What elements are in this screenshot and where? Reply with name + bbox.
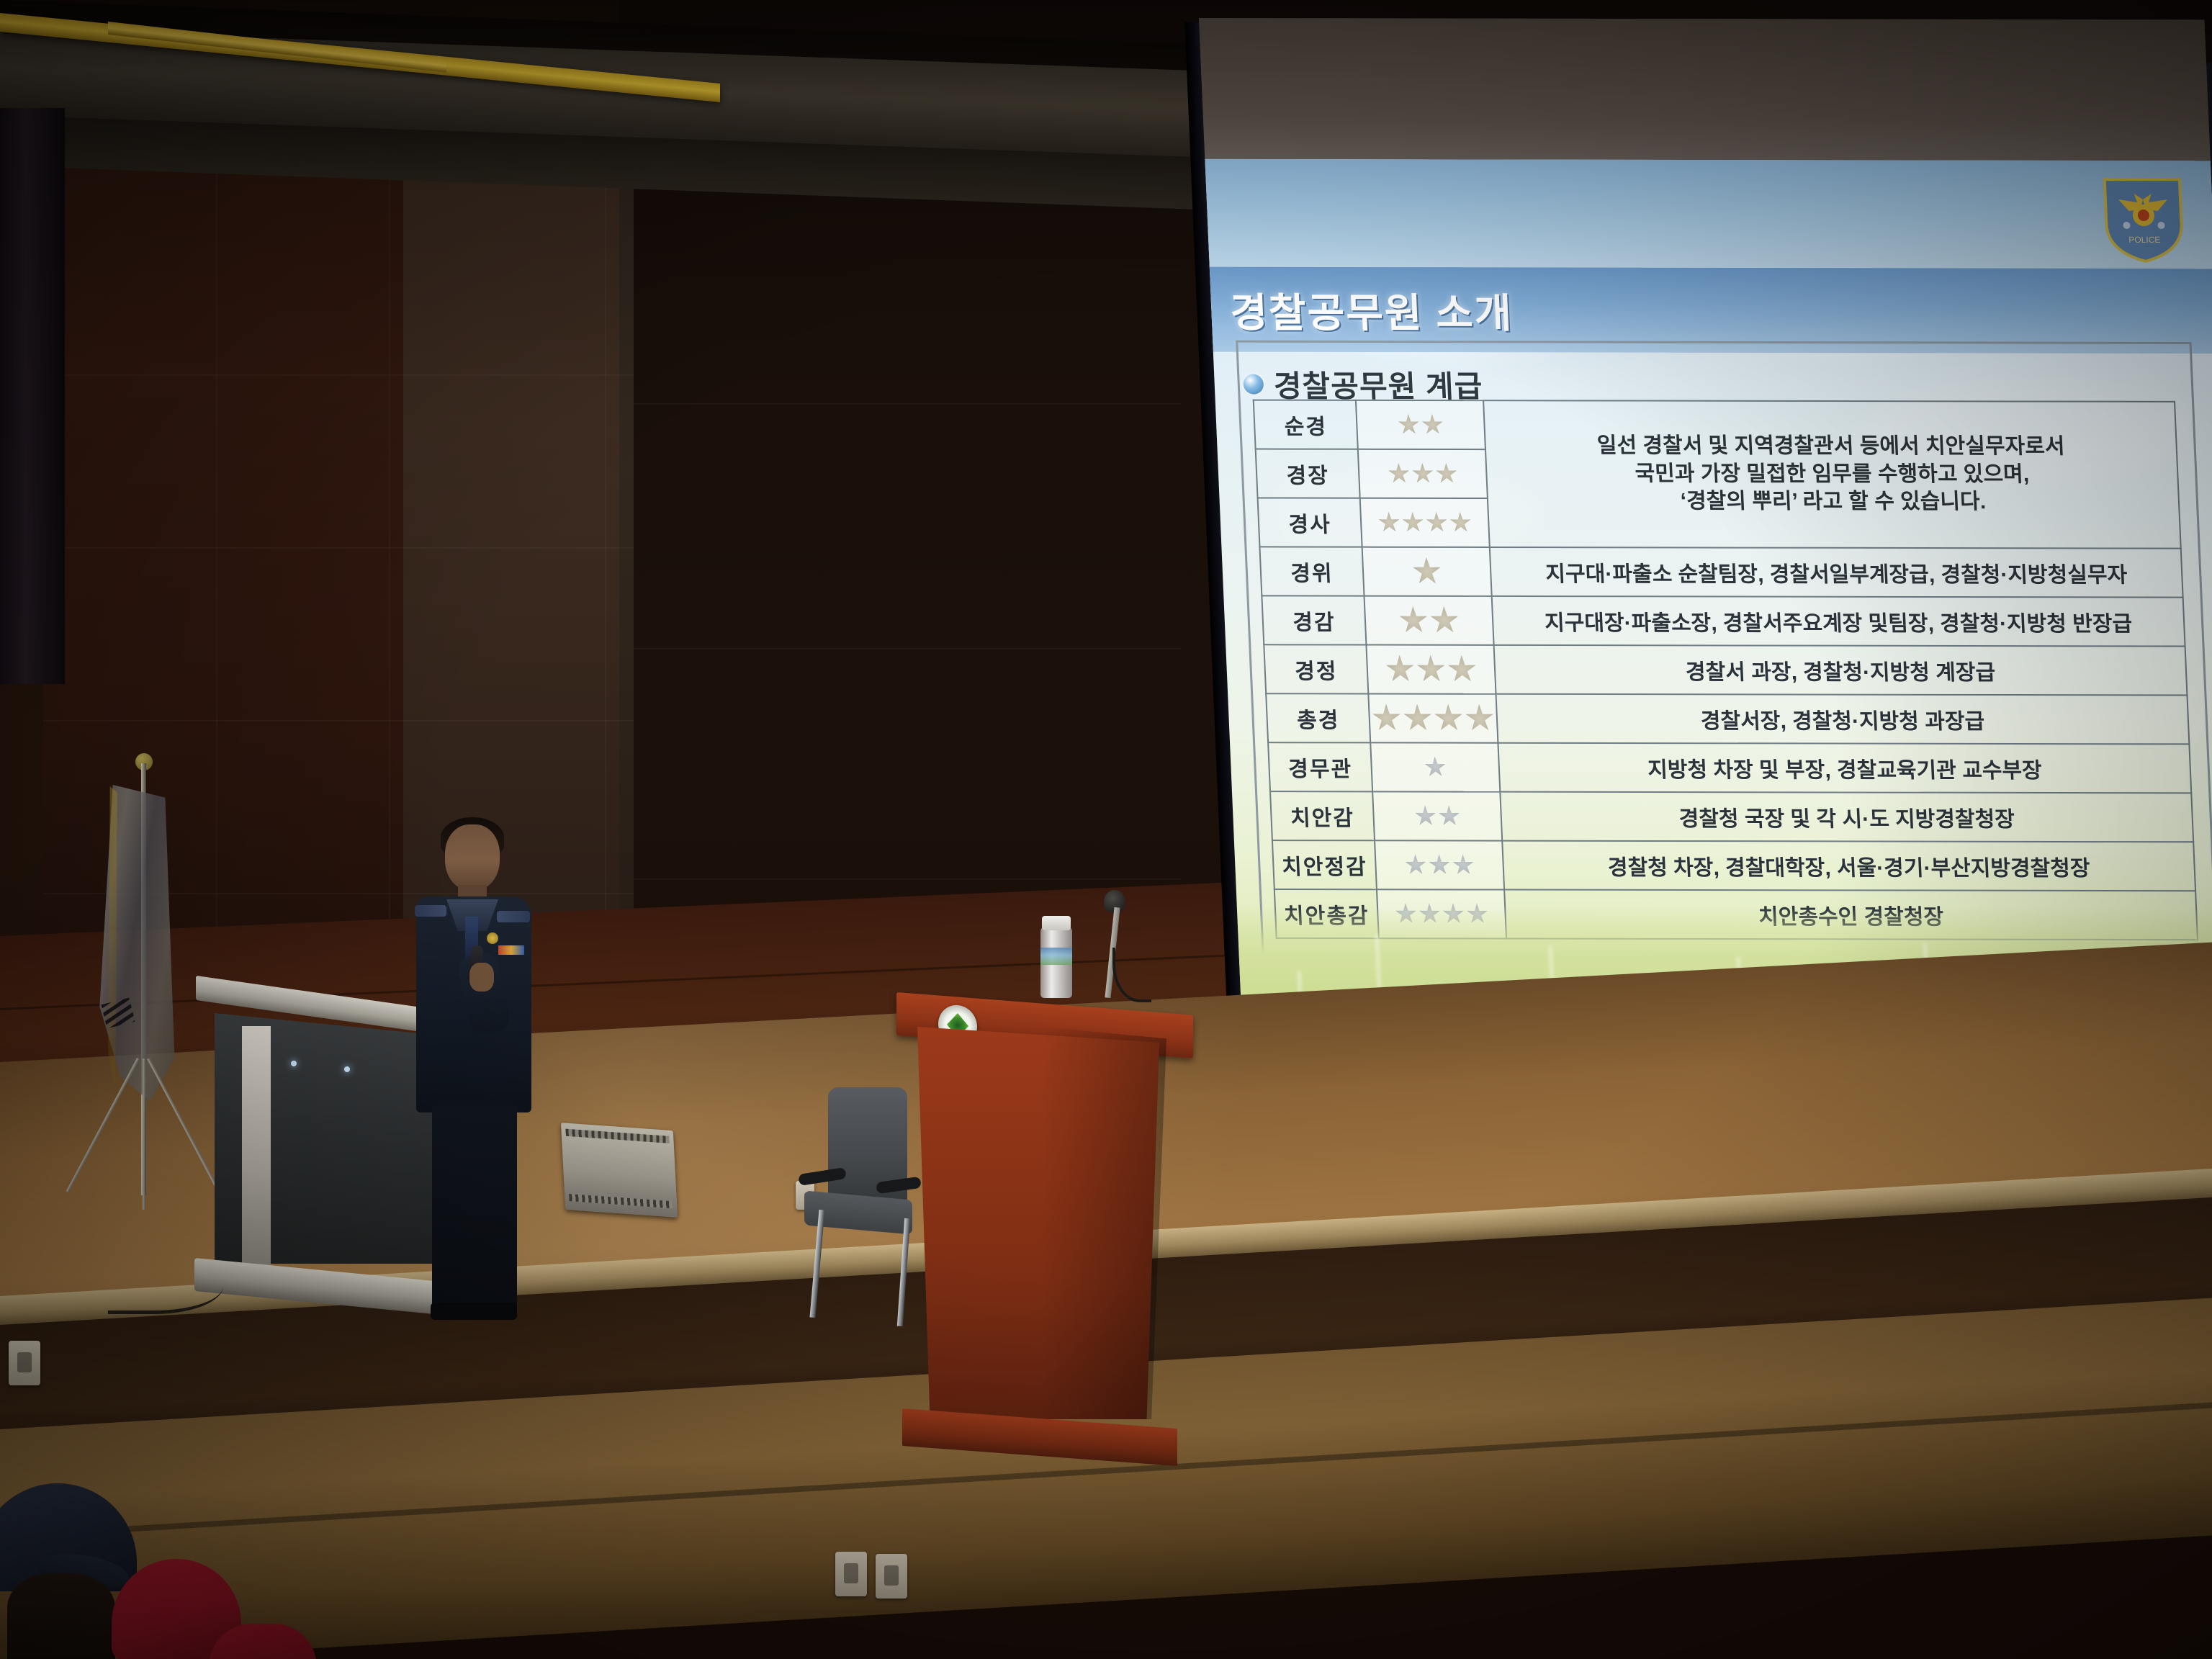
mugunghwa-icon [1402,512,1424,534]
rank-description-cell: 지구대·파출소 순찰팀장, 경찰서일부계장급, 경찰청·지방청실무자 [1490,547,2183,598]
mugunghwa-icon [1426,512,1448,534]
mugunghwa-icon [1398,606,1429,635]
mugunghwa-icon [1388,463,1410,485]
officer-trousers [432,1105,517,1314]
rank-insignia-cell [1366,645,1496,694]
lectern-accent-stripe [242,1026,271,1265]
slide-header-band: POLICE [1205,159,2212,276]
rank-insignia-cell [1360,498,1490,547]
slide-title: 경찰공무원 소개 [1229,280,1514,339]
rank-insignia-cell [1375,840,1504,889]
rank-insignia-cell [1364,596,1494,645]
wall-seam [216,130,217,979]
rank-insignia-cell [1372,791,1502,840]
table-row: 순경일선 경찰서 및 지역경찰관서 등에서 치안실무자로서국민과 가장 밀접한 … [1254,400,2177,451]
police-officer-presenter [403,824,540,1328]
officer-shoulder-board [497,911,530,922]
wall-seam [634,878,1181,880]
rank-name-cell: 치안감 [1270,791,1375,840]
presentation-slide: POLICE 경찰공무원 소개 경찰공무원 계급 순경일선 경찰서 및 지역경찰… [1205,159,2212,1073]
rank-description-cell: 경찰서장, 경찰청·지방청 과장급 [1496,694,2190,745]
officer-shoulder-board [415,905,446,917]
wall-seam [43,720,634,721]
table-row: 경정경찰서 과장, 경찰청·지방청 계장급 [1264,644,2187,695]
floor-heater-panel [561,1123,678,1218]
wall-seam [43,547,634,549]
wall-seam [605,72,606,994]
audience-member-hair [7,1573,115,1659]
podium-shadow [1040,1027,1166,1419]
rank-description-cell: 지방청 차장 및 부장, 경찰교육기관 교수부장 [1498,743,2191,793]
rank-description-cell: 경찰청 국장 및 각 시·도 지방경찰청장 [1500,792,2193,842]
mugunghwa-icon [1465,704,1495,733]
flag-tripod-leg [143,1058,145,1210]
mugunghwa-icon [1434,704,1464,733]
star-icon [1452,854,1474,876]
flag-tripod-leg [66,1058,140,1192]
rank-description-cell: 지구대장·파출소장, 경찰서주요계장 및팀장, 경찰청·지방청 반장급 [1492,596,2185,647]
rank-description-cell: 경찰서 과장, 경찰청·지방청 계장급 [1494,645,2188,696]
mugunghwa-icon [1398,414,1420,436]
table-row: 치안정감경찰청 차장, 경찰대학장, 서울·경기·부산지방경찰청장 [1272,840,2195,891]
mugunghwa-icon [1449,512,1472,534]
wall-seam [389,86,390,979]
mugunghwa-icon [1372,703,1402,732]
rank-insignia-cell [1358,449,1488,498]
mugunghwa-icon [1435,463,1457,485]
lectern-indicator-light [291,1061,297,1066]
star-icon [1428,854,1450,876]
rank-name-cell: 치안정감 [1272,840,1377,889]
mugunghwa-icon [1416,655,1447,684]
officer-head [445,824,500,891]
mugunghwa-icon [1429,606,1460,635]
rank-insignia-cell [1368,693,1498,742]
rank-name-cell: 경정 [1264,644,1368,693]
wall-seam [634,648,1181,649]
screen-unlit-area [1199,18,2211,163]
rank-name-cell: 경위 [1259,547,1364,595]
rank-insignia-cell [1362,547,1492,596]
microphone-cable [1112,948,1151,1002]
officer-ribbon-bar [498,945,524,955]
water-bottle-label [1040,948,1072,965]
auditorium-scene: POLICE 경찰공무원 소개 경찰공무원 계급 순경일선 경찰서 및 지역경찰… [0,0,2212,1659]
mugunghwa-icon [1385,655,1416,684]
star-icon [1424,757,1447,778]
rank-name-cell: 경장 [1256,449,1360,498]
lectern-indicator-light [344,1066,350,1072]
table-row: 경감지구대장·파출소장, 경찰서주요계장 및팀장, 경찰청·지방청 반장급 [1262,595,2185,646]
star-icon [1414,805,1437,827]
star-icon [1404,854,1426,876]
rank-description-cell: 일선 경찰서 및 지역경찰관서 등에서 치안실무자로서국민과 가장 밀접한 임무… [1483,400,2181,548]
rank-insignia-cell [1370,742,1500,791]
wall-outlet [9,1341,40,1385]
mugunghwa-icon [1412,557,1442,586]
wall-outlet [876,1554,907,1599]
projection-screen: POLICE 경찰공무원 소개 경찰공무원 계급 순경일선 경찰서 및 지역경찰… [1199,18,2212,1099]
emblem-text: POLICE [2128,235,2161,245]
officer-hand [469,963,494,992]
officer-badge [487,932,498,944]
rank-name-cell: 경무관 [1268,742,1372,791]
table-row: 경무관지방청 차장 및 부장, 경찰교육기관 교수부장 [1268,742,2191,793]
mugunghwa-icon [1447,655,1478,684]
rank-description-cell: 경찰청 차장, 경찰대학장, 서울·경기·부산지방경찰청장 [1502,841,2195,891]
mugunghwa-icon [1403,704,1433,733]
mugunghwa-icon [1421,414,1444,436]
police-rank-table: 순경일선 경찰서 및 지역경찰관서 등에서 치안실무자로서국민과 가장 밀접한 … [1253,400,2198,941]
stage-curtain [0,108,65,684]
rank-name-cell: 순경 [1254,400,1358,449]
table-row: 경위지구대·파출소 순찰팀장, 경찰서일부계장급, 경찰청·지방청실무자 [1259,547,2182,597]
wooden-podium [896,992,1199,1489]
rank-name-cell: 총경 [1266,693,1370,742]
mugunghwa-icon [1411,463,1434,485]
korean-national-flag [72,763,216,1224]
star-icon [1438,805,1460,827]
wall-seam [43,374,634,376]
rank-name-cell: 경감 [1262,595,1366,644]
flag-cloth [92,785,186,1102]
rank-insignia-cell [1356,400,1485,449]
wall-seam [634,403,1181,405]
table-row: 치안감경찰청 국장 및 각 시·도 지방경찰청장 [1270,791,2193,842]
rank-name-cell: 경사 [1258,498,1362,547]
screen-surface: POLICE 경찰공무원 소개 경찰공무원 계급 순경일선 경찰서 및 지역경찰… [1199,18,2212,1092]
mugunghwa-icon [1378,512,1401,534]
officer-shoes [431,1303,517,1320]
water-bottle-cap [1042,916,1071,930]
table-row: 총경경찰서장, 경찰청·지방청 과장급 [1266,693,2189,744]
police-emblem-icon: POLICE [2100,174,2188,264]
wall-outlet [835,1552,867,1596]
